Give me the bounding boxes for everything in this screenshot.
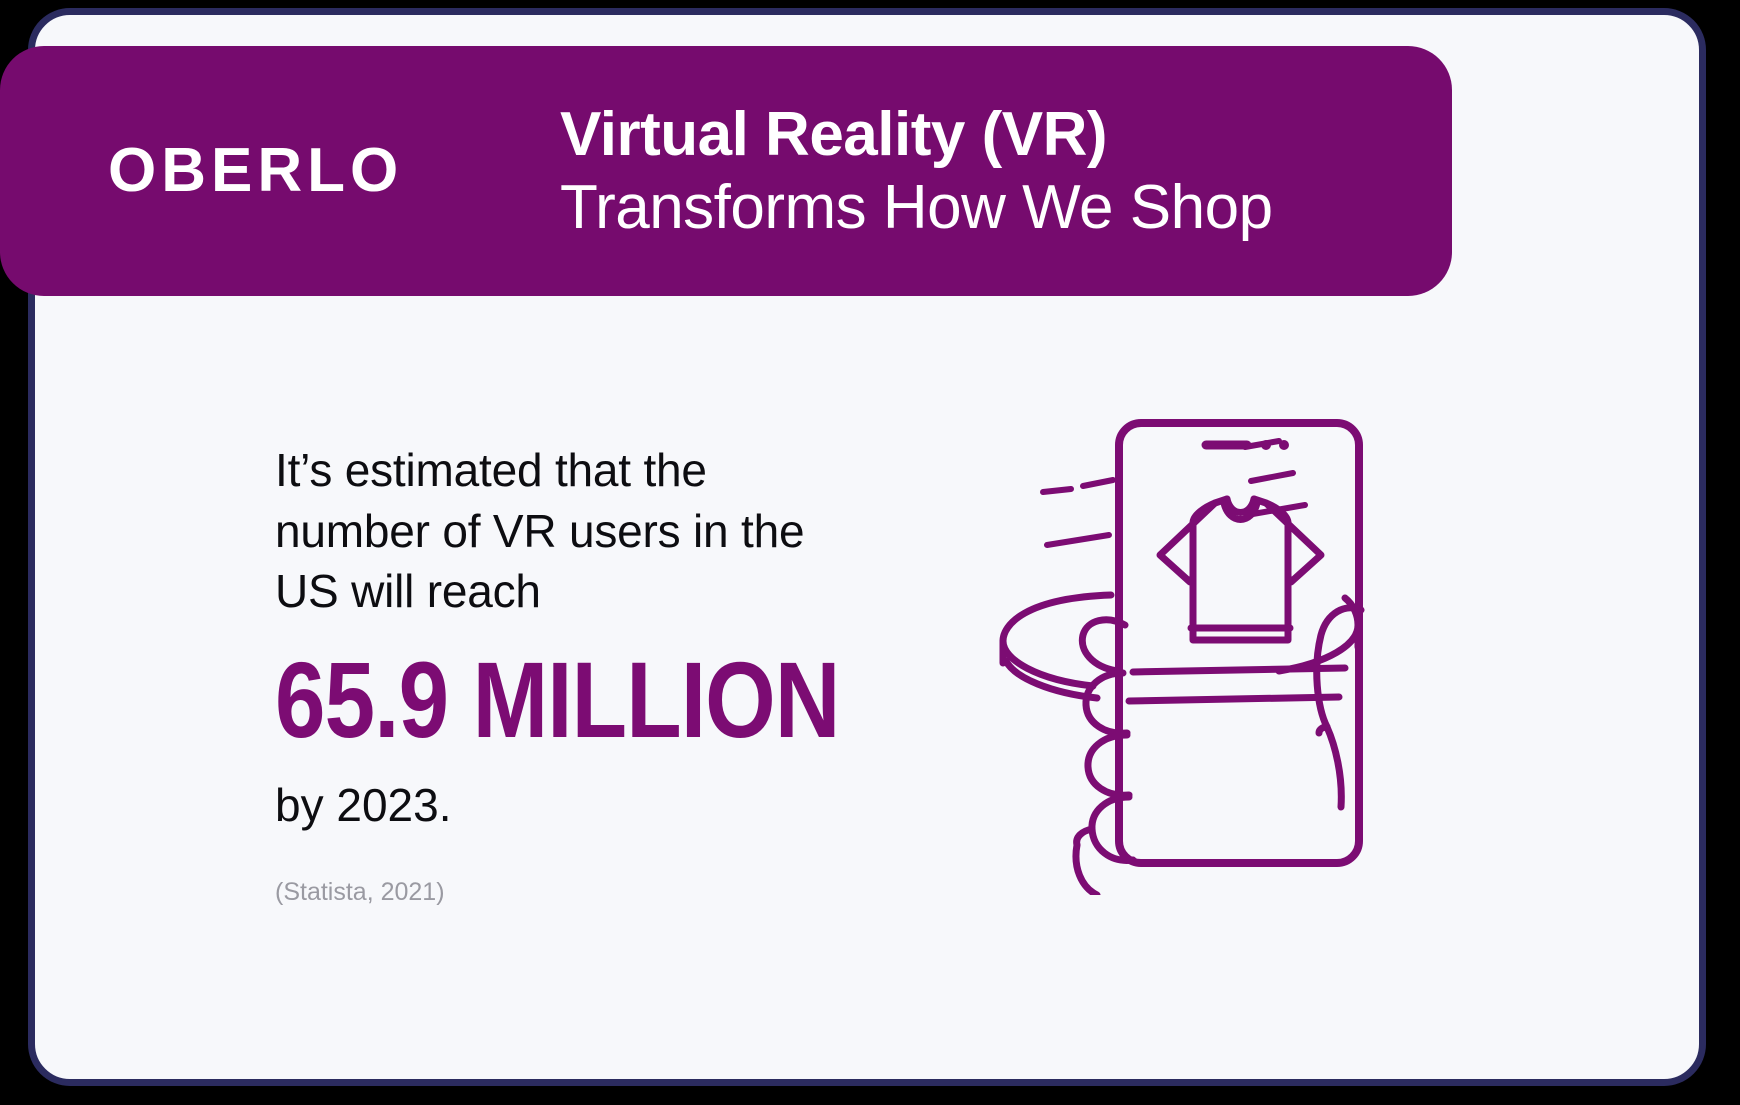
page-title-line-2: Transforms How We Shop	[560, 171, 1273, 244]
stat-figure: 65.9 MILLION	[275, 648, 745, 752]
vr-shopping-illustration	[875, 355, 1365, 895]
phone-screen-divider-lines	[1129, 668, 1345, 701]
header-bar: OBERLO Virtual Reality (VR) Transforms H…	[0, 46, 1452, 296]
tshirt-product	[1160, 499, 1321, 640]
page-title-line-1: Virtual Reality (VR)	[560, 98, 1273, 171]
motion-lines-left	[1043, 480, 1113, 545]
stat-source-citation: (Statista, 2021)	[275, 876, 835, 909]
oberlo-logo[interactable]: OBERLO	[108, 140, 403, 202]
stat-lead-text: It’s estimated that the number of VR use…	[275, 440, 835, 622]
stat-trailing-text: by 2023.	[275, 776, 835, 836]
header-title-group: Virtual Reality (VR) Transforms How We S…	[560, 98, 1273, 244]
orbit-ellipse-ring	[1003, 595, 1358, 698]
stat-block: It’s estimated that the number of VR use…	[275, 440, 835, 908]
